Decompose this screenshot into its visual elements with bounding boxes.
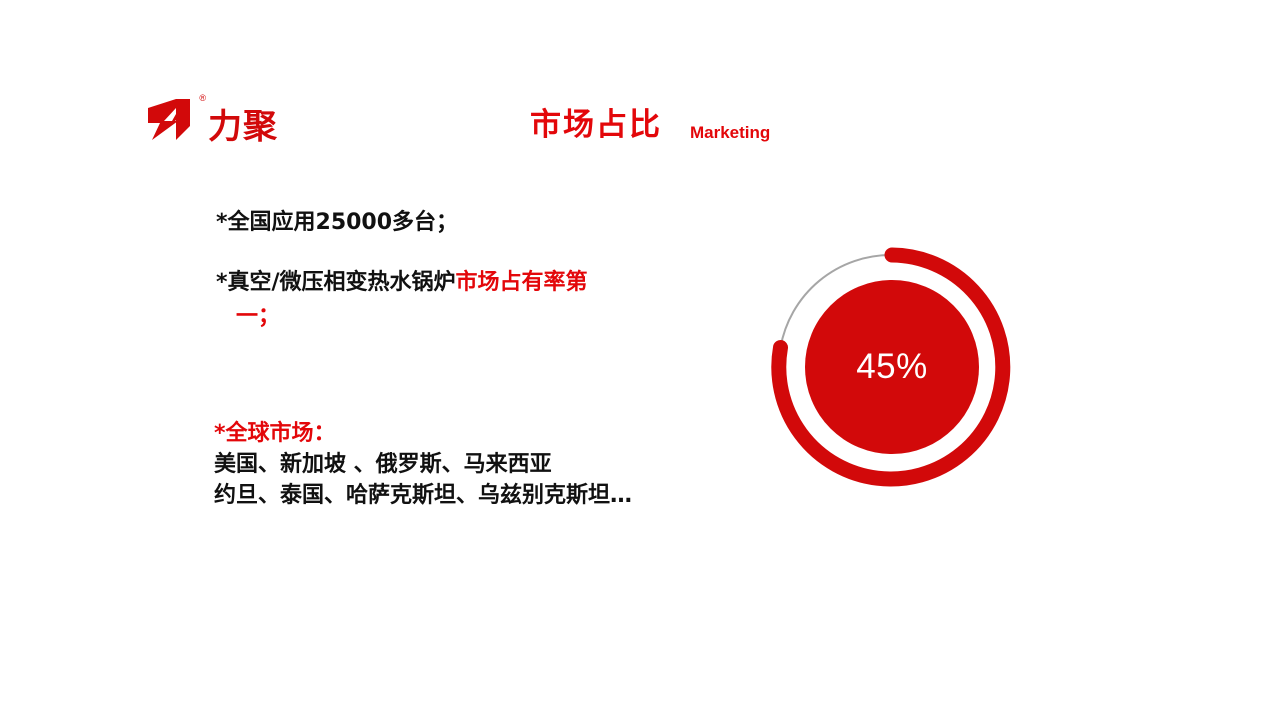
- bullet-list: *全国应用25000多台； *真空/微压相变热水锅炉市场占有率第一；: [216, 206, 716, 334]
- bullet-market-share-lead: *真空/微压相变热水锅炉: [216, 270, 456, 295]
- bullet-market-share-highlight: 市场占有率第: [456, 270, 588, 295]
- page-subtitle: Marketing: [690, 124, 770, 141]
- global-market-line-1: 美国、新加坡 、俄罗斯、马来西亚: [214, 449, 774, 480]
- slide-canvas: ® 力聚 市场占比 Marketing *全国应用25000多台； *真空/微压…: [0, 0, 1280, 720]
- donut-inner-disc: [805, 280, 979, 454]
- slide-header: 市场占比 Marketing: [530, 110, 770, 141]
- bullet-market-share: *真空/微压相变热水锅炉市场占有率第一；: [216, 266, 716, 334]
- bullet-domestic: *全国应用25000多台；: [216, 206, 716, 240]
- global-market-block: *全球市场： 美国、新加坡 、俄罗斯、马来西亚 约旦、泰国、哈萨克斯坦、乌兹别克…: [214, 418, 774, 512]
- global-market-heading: *全球市场：: [214, 418, 774, 449]
- registered-trademark-icon: ®: [199, 94, 206, 103]
- market-share-donut-chart: 45%: [762, 237, 1022, 497]
- page-title: 市场占比: [530, 110, 662, 141]
- bullet-market-share-highlight-wrap: 一；: [216, 300, 716, 334]
- global-market-line-2: 约旦、泰国、哈萨克斯坦、乌兹别克斯坦…: [214, 480, 774, 511]
- lightning-bolt-icon: ®: [146, 96, 202, 146]
- logo-wordmark: 力聚: [208, 110, 278, 144]
- brand-logo: ® 力聚: [146, 90, 278, 146]
